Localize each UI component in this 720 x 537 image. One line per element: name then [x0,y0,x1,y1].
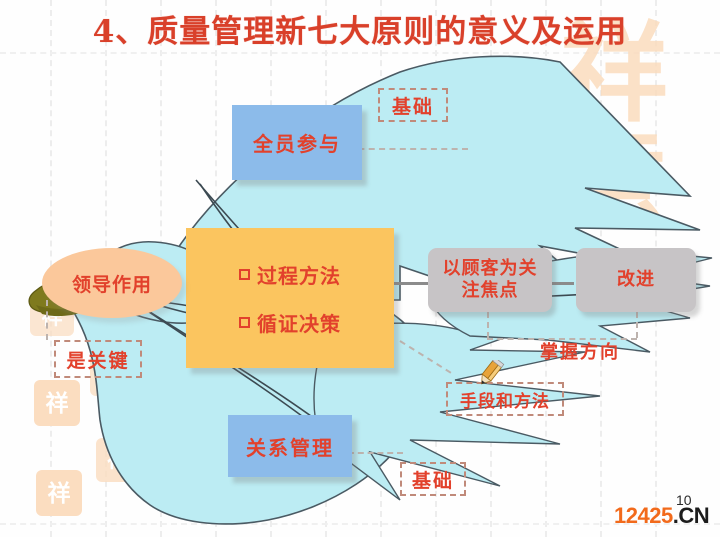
node-grasp-direction: 掌握方向 [520,338,640,364]
checkbox-square-icon [239,317,250,328]
watermark-tld: CN [678,503,709,528]
node-foundation-bottom[interactable]: 基础 [400,462,466,496]
customer-focus-line-2: 注焦点 [462,280,519,303]
connector-customer-improvement [552,282,574,285]
node-improvement[interactable]: 改进 [576,248,696,312]
pencil-icon [476,360,510,395]
connector-leadership-iskey [46,300,48,340]
node-customer-focus[interactable]: 以顾客为关 注焦点 [428,248,552,312]
label-process-method: 过程方法 [257,260,341,289]
node-leadership[interactable]: 领导作用 [42,248,182,318]
page-title: 4、质量管理新七大原则的意义及运用 [0,6,720,51]
connector-participation-foundation [348,148,468,150]
watermark-number: 12425 [614,503,673,528]
site-watermark: 12425.CN [614,503,709,529]
connector-relationship-foundation [348,452,403,454]
slide-canvas: 祥意 祥 祥 祥 祥 祥 4、质量管理新七大原则的意义及运用 .body { f… [0,0,720,537]
label-evidence-decision: 循证决策 [257,308,341,337]
bullet-process-method: 过程方法 [239,260,341,289]
connector-customer-direction [487,312,489,338]
bullet-evidence-decision: 循证决策 [239,308,341,337]
connector-improvement-direction [636,312,638,338]
node-relationship-management[interactable]: 关系管理 [228,415,352,477]
connector-orange-customer [390,282,430,285]
node-foundation-top[interactable]: 基础 [378,88,448,122]
node-process-and-decision[interactable]: 过程方法 循证决策 [186,228,394,368]
node-full-participation[interactable]: 全员参与 [232,105,362,180]
customer-focus-line-1: 以顾客为关 [443,258,538,281]
checkbox-square-icon [239,269,250,280]
node-is-key[interactable]: 是关键 [54,340,142,378]
